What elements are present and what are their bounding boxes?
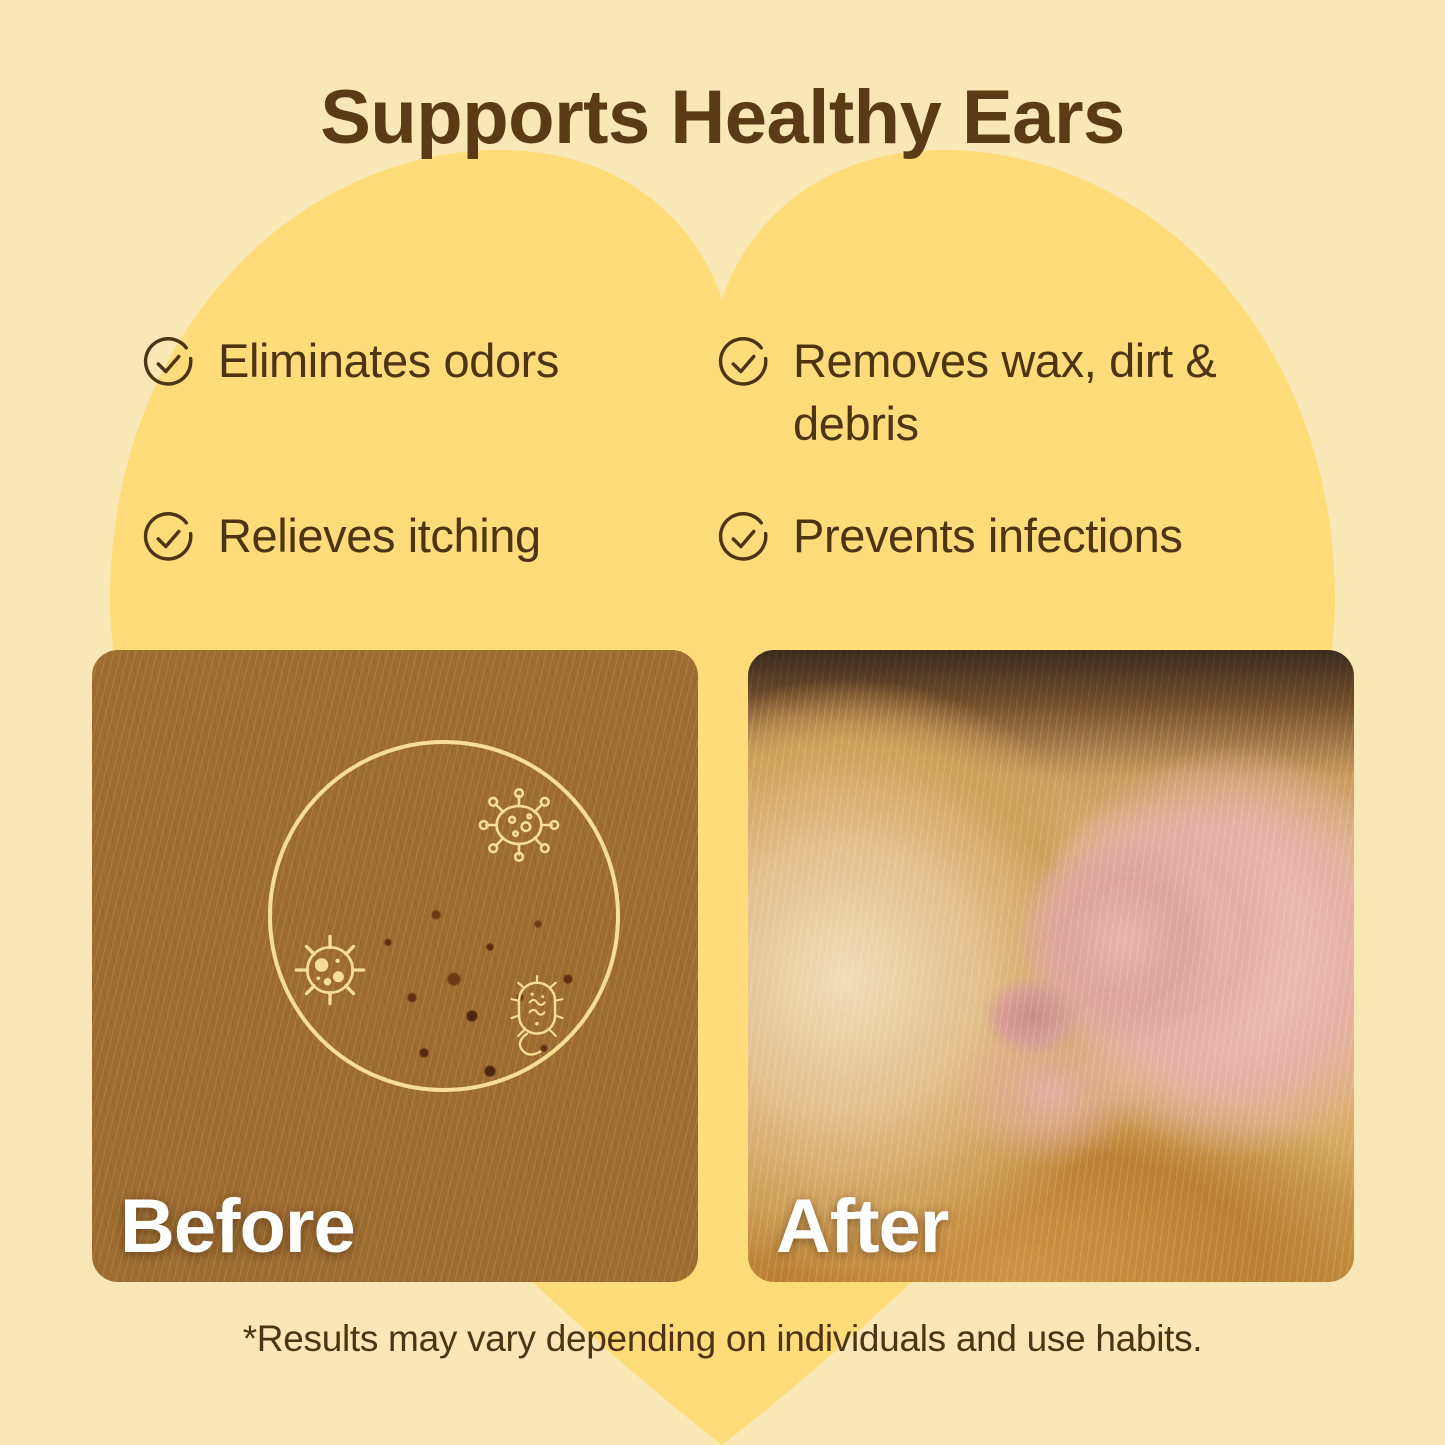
benefit-label: Eliminates odors (218, 330, 559, 393)
virus-icon (476, 782, 562, 868)
promo-graphic: Supports Healthy Ears Eliminates odors R… (0, 0, 1445, 1445)
benefits-list: Eliminates odors Removes wax, dirt & deb… (140, 330, 1320, 568)
microbe-icon (288, 928, 372, 1012)
before-after-comparison: Before After (92, 650, 1354, 1282)
benefit-item: Eliminates odors (140, 330, 715, 505)
after-label: After (776, 1183, 948, 1270)
page-title: Supports Healthy Ears (0, 78, 1445, 158)
benefit-label: Prevents infections (793, 505, 1183, 568)
benefit-item: Relieves itching (140, 505, 715, 568)
check-circle-icon (140, 336, 196, 392)
check-circle-icon (140, 511, 196, 567)
check-circle-icon (715, 511, 771, 567)
results-disclaimer: *Results may vary depending on individua… (0, 1318, 1445, 1360)
benefit-label: Removes wax, dirt & debris (793, 330, 1313, 455)
benefit-item: Prevents infections (715, 505, 1320, 568)
before-card: Before (92, 650, 698, 1282)
benefit-item: Removes wax, dirt & debris (715, 330, 1320, 505)
before-label: Before (120, 1183, 355, 1270)
bacteria-rod-icon (496, 972, 578, 1064)
check-circle-icon (715, 336, 771, 392)
after-card: After (748, 650, 1354, 1282)
benefit-label: Relieves itching (218, 505, 541, 568)
